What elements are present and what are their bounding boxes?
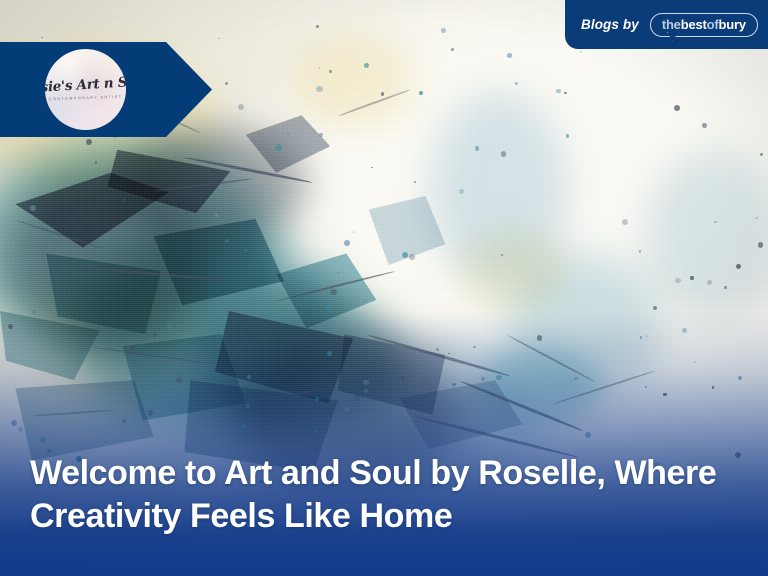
- logo-word-best: best: [681, 17, 707, 32]
- paint-spatter-dot: [354, 395, 360, 401]
- paint-spatter-dot: [574, 377, 577, 380]
- paint-spatter-dot: [325, 304, 331, 310]
- paint-spatter-dot: [481, 377, 485, 381]
- paint-spatter-dot: [564, 92, 567, 95]
- paint-spatter-dot: [225, 82, 228, 85]
- paint-spatter-dot: [275, 144, 282, 151]
- paint-spatter-dot: [702, 123, 707, 128]
- paint-spatter-dot: [507, 53, 512, 58]
- logo-word-of: of: [707, 17, 719, 32]
- paint-spatter-dot: [473, 346, 475, 348]
- paint-spatter-dot: [363, 380, 368, 385]
- thebestofbury-logo[interactable]: thebestofbury: [650, 16, 758, 34]
- paint-spatter-dot: [663, 393, 666, 396]
- paint-spatter-dot: [580, 51, 582, 53]
- paint-spatter-dot: [653, 306, 657, 310]
- paint-spatter-dot: [436, 348, 439, 351]
- paint-spatter-dot: [287, 133, 290, 136]
- paint-spatter-dot: [639, 250, 641, 252]
- paint-spatter-dot: [448, 353, 450, 355]
- paint-spatter-dot: [566, 134, 569, 137]
- paint-spatter-dot: [246, 404, 250, 408]
- paint-spatter-dot: [496, 375, 502, 381]
- paint-spatter-dot: [622, 219, 628, 225]
- paint-spatter-dot: [319, 133, 322, 136]
- paint-spatter-dot: [364, 63, 369, 68]
- artist-logo-subtitle: CONTEMPORARY ARTIST: [49, 95, 123, 102]
- blogs-by-label: Blogs by: [581, 17, 639, 32]
- paint-spatter-dot: [316, 86, 322, 92]
- paint-spatter-dot: [452, 383, 456, 387]
- page-title: Welcome to Art and Soul by Roselle, Wher…: [30, 452, 740, 538]
- paint-wash-cream: [292, 35, 415, 127]
- paint-spatter-dot: [32, 310, 37, 315]
- logo-word-the: the: [662, 17, 681, 32]
- artist-logo-circle: Rosie's Art n Soul CONTEMPORARY ARTIST: [45, 49, 126, 130]
- paint-spatter-dot: [247, 375, 251, 379]
- logo-word-bury: bury: [719, 17, 746, 32]
- paint-spatter-dot: [345, 407, 349, 411]
- paint-spatter-dot: [712, 386, 714, 388]
- paint-wash-blue: [430, 92, 568, 288]
- blog-hero-banner: Rosie's Art n Soul CONTEMPORARY ARTIST B…: [0, 0, 768, 576]
- artist-logo-script-text: Rosie's Art n Soul: [45, 75, 126, 96]
- paint-spatter-dot: [327, 351, 332, 356]
- paint-spatter-dot: [714, 221, 716, 223]
- paint-spatter-dot: [690, 276, 693, 279]
- paint-spatter-dot: [215, 214, 218, 217]
- paint-spatter-dot: [30, 205, 36, 211]
- paint-spatter-dot: [501, 254, 503, 256]
- paint-spatter-dot: [755, 217, 758, 220]
- paint-spatter-dot: [459, 189, 464, 194]
- blogs-by-badge[interactable]: Blogs by thebestofbury: [565, 0, 768, 49]
- paint-spatter-dot: [381, 92, 385, 96]
- paint-spatter-dot: [234, 250, 236, 252]
- paint-spatter-dot: [441, 28, 446, 33]
- thebestofbury-pill: thebestofbury: [650, 13, 758, 37]
- paint-spatter-dot: [409, 254, 415, 260]
- paint-spatter-dot: [166, 323, 172, 329]
- paint-spatter-dot: [419, 91, 423, 95]
- paint-spatter-dot: [352, 435, 354, 437]
- paint-wash-blue: [645, 150, 768, 323]
- paint-spatter-dot: [153, 333, 157, 337]
- paint-spatter-dot: [316, 25, 319, 28]
- paint-wash-blue: [507, 253, 661, 403]
- paint-spatter-dot: [556, 89, 561, 94]
- speech-bubble-tail-mask: [668, 31, 679, 35]
- paint-spatter-dot: [330, 289, 336, 295]
- paint-spatter-dot: [241, 424, 246, 429]
- paint-spatter-dot: [758, 242, 764, 248]
- paint-spatter-dot: [400, 376, 405, 381]
- paint-spatter-dot: [475, 146, 479, 150]
- paint-spatter-dot: [8, 324, 13, 329]
- paint-spatter-dot: [329, 70, 332, 73]
- paint-spatter-dot: [18, 427, 23, 432]
